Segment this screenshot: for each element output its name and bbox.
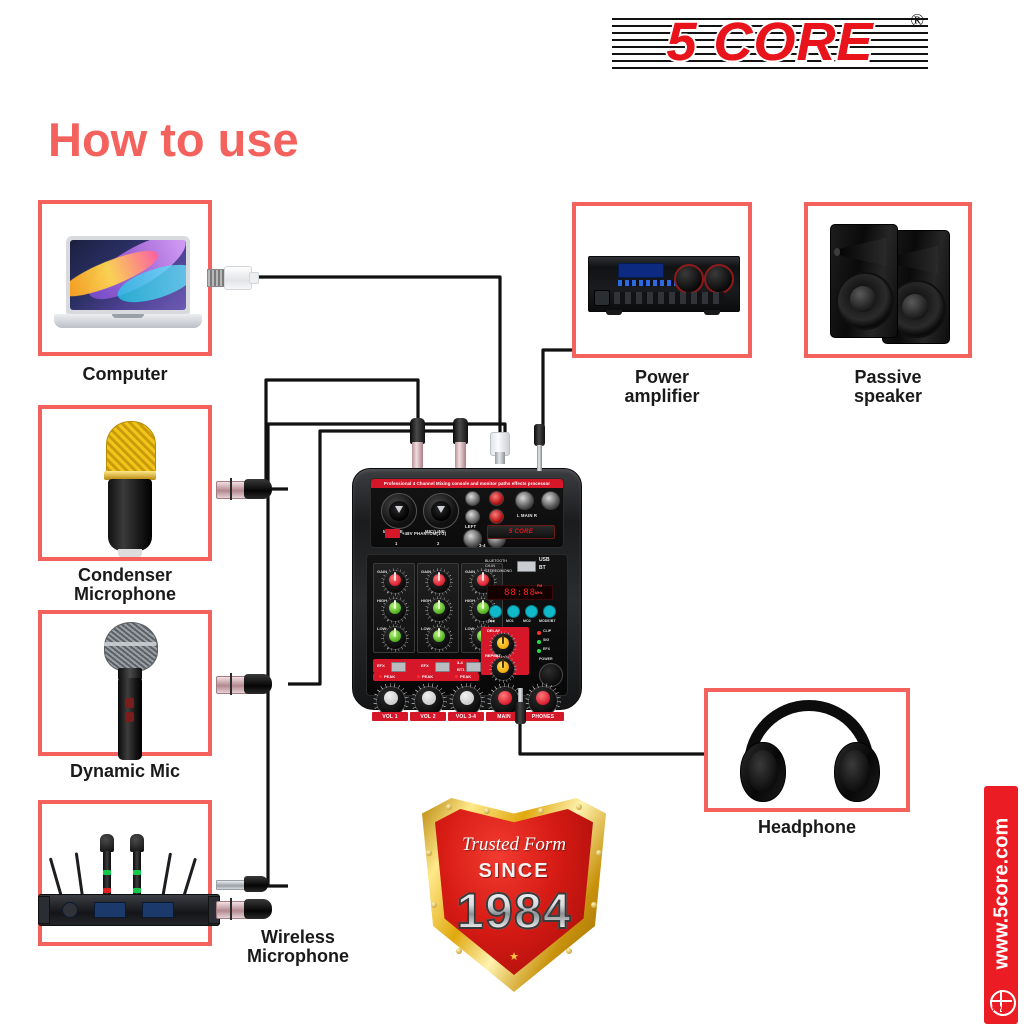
rca-jack-right-top[interactable] (489, 491, 504, 506)
label-efx-led: EFX (543, 647, 550, 651)
caption-line-2: Microphone (74, 584, 176, 604)
globe-www-label: WWW (992, 1007, 1009, 1013)
transport-button-3[interactable] (525, 605, 538, 618)
mode-line-1: BLUETOOTH (485, 559, 507, 563)
high-knob-1[interactable] (383, 598, 407, 622)
label-ch34: 3-4 (457, 660, 463, 665)
caption-line-2: Microphone (247, 946, 349, 966)
label-clip: CLIP (543, 629, 551, 633)
mode-line-3: STEREO/MONO (485, 569, 512, 573)
label-display-mhz: MHz (535, 592, 542, 596)
usb-plug-mixer (490, 432, 510, 456)
label-bluetooth-mode: BLUETOOTH CH-IN STEREO/MONO (485, 559, 512, 574)
device-box-wireless-microphone[interactable] (38, 800, 212, 946)
website-banner[interactable]: www.5core.com WWW (984, 786, 1018, 1024)
infographic-canvas: 5 CORE 5 CORE ® How to use (0, 0, 1024, 1024)
high-knob-2[interactable] (427, 598, 451, 622)
label-main-out: L MAIN R (517, 513, 537, 518)
rca-jack-left-bottom[interactable] (465, 509, 480, 524)
trust-badge-shield: Trusted Form SINCE 1984 ★ (422, 798, 606, 992)
caption-line-1: Wireless (261, 927, 335, 947)
caption-line-2: amplifier (624, 386, 699, 406)
sig-led (537, 640, 541, 644)
device-box-headphone[interactable] (704, 688, 910, 812)
mixer-brand-badge: 5 CORE (487, 525, 555, 539)
caption-condenser-microphone: Condenser Microphone (28, 566, 222, 604)
caption-line-1: Power (635, 367, 689, 387)
low-knob-2[interactable] (427, 626, 451, 650)
label-phantom-power: +48V PHANTOM(1-2) (402, 531, 456, 536)
label-bt: BT (539, 566, 546, 572)
channel-strip-1: GAIN HIGH LOW (373, 563, 415, 653)
device-box-power-amplifier[interactable] (572, 202, 752, 358)
peak-indicator-1: PEAK (379, 674, 395, 679)
cable-amplifier (543, 350, 575, 432)
caption-computer: Computer (38, 365, 212, 384)
label-transport-3: MO2 (523, 619, 531, 623)
website-url: www.5core.com (991, 804, 1014, 984)
label-transport-1: |◀◀ (488, 619, 495, 623)
transport-button-1[interactable] (489, 605, 502, 618)
label-vol-34: VOL 3-4 (448, 712, 484, 721)
caption-headphone: Headphone (704, 818, 910, 837)
caption-power-amplifier: Power amplifier (572, 368, 752, 406)
label-peak-2: PEAK (422, 674, 433, 679)
gain-knob-2[interactable] (427, 570, 451, 594)
main-out-right-jack[interactable] (541, 491, 560, 510)
rca-jack-left-top[interactable] (465, 491, 480, 506)
caption-line-1: Passive (854, 367, 921, 387)
peak-indicator-2: PEAK (417, 674, 433, 679)
label-sig: SIG (543, 638, 549, 642)
page-title: How to use (48, 112, 299, 167)
caption-wireless-microphone: Wireless Microphone (218, 928, 378, 966)
main-out-left-jack[interactable] (515, 491, 534, 510)
badge-since: SINCE (422, 860, 606, 883)
mode-line-2: CH-IN (485, 564, 495, 568)
caption-line-2: speaker (854, 386, 922, 406)
device-box-computer[interactable] (38, 200, 212, 356)
label-input-num-1: 1 (395, 541, 398, 546)
transport-button-4[interactable] (543, 605, 556, 618)
device-box-condenser-microphone[interactable] (38, 405, 212, 561)
label-peak-3: PEAK (460, 674, 471, 679)
label-input-num-2: 2 (437, 541, 440, 546)
registered-trademark-icon: ® (910, 10, 924, 31)
caption-passive-speaker: Passive speaker (804, 368, 972, 406)
gain-knob-1[interactable] (383, 570, 407, 594)
efx-button-2[interactable] (435, 662, 450, 672)
cable-computer (258, 277, 500, 432)
label-transport-4: MODE/BT (539, 619, 556, 623)
device-box-passive-speaker[interactable] (804, 202, 972, 358)
caption-line-1: Condenser (78, 565, 172, 585)
repeat-knob[interactable] (491, 657, 515, 681)
mixer-banner-text: Professional 4 Channel Mixing console an… (371, 479, 563, 488)
peak-indicator-3: PEAK (455, 674, 471, 679)
channel-strip-2: GAIN HIGH LOW (417, 563, 459, 653)
label-transport-2: MO1 (506, 619, 514, 623)
label-efx-1: EFX (377, 663, 385, 668)
label-vol-2: VOL 2 (410, 712, 446, 721)
label-phones: PHONES (522, 712, 564, 721)
rca-jack-right-bottom[interactable] (489, 509, 504, 524)
combo-jack-1[interactable] (381, 493, 417, 529)
low-knob-1[interactable] (383, 626, 407, 650)
phantom-power-switch[interactable] (385, 529, 400, 538)
efx-button-1[interactable] (391, 662, 406, 672)
combo-jack-2[interactable] (423, 493, 459, 529)
label-rca-channel: 3-4 (479, 543, 486, 548)
label-power: POWER (539, 657, 553, 661)
transport-button-2[interactable] (507, 605, 520, 618)
led-display: 88:88 (487, 585, 553, 600)
badge-tagline: Trusted Form (422, 834, 606, 856)
label-usb: USB (539, 558, 550, 564)
label-vol-1: VOL 1 (372, 712, 408, 721)
mixer-control-panel: GAIN HIGH LOW GAIN HIGH (366, 554, 568, 696)
clip-led (537, 631, 541, 635)
efx-led (537, 649, 541, 653)
label-peak-1: PEAK (384, 674, 395, 679)
efx-button-3[interactable] (466, 662, 481, 672)
label-display-fm: FM (537, 585, 542, 589)
cable-headphone (520, 716, 706, 754)
usb-port[interactable] (517, 561, 536, 572)
device-box-dynamic-microphone[interactable] (38, 610, 212, 756)
logo-text-fill: 5 CORE (612, 8, 928, 76)
caption-dynamic-microphone: Dynamic Mic (38, 762, 212, 781)
label-bt1: BT1 (457, 667, 465, 672)
mixer-io-panel: Professional 4 Channel Mixing console an… (370, 478, 564, 548)
brand-logo: 5 CORE 5 CORE ® (612, 8, 928, 76)
mixing-console[interactable]: Professional 4 Channel Mixing console an… (352, 462, 580, 712)
badge-year: 1984 (422, 882, 606, 940)
label-efx-2: EFX (421, 663, 429, 668)
badge-star-icon: ★ (422, 950, 606, 963)
